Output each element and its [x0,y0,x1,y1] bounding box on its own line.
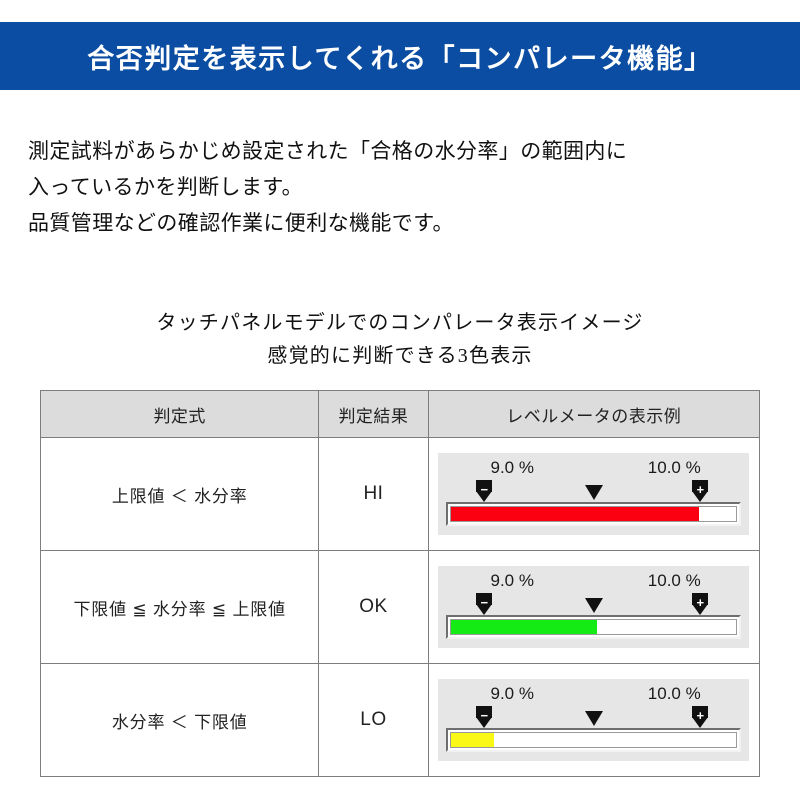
current-value-pointer-icon [585,485,603,500]
page-banner: 合否判定を表示してくれる「コンパレータ機能」 [0,22,800,90]
meter-markers: − + [438,706,749,728]
table-row: 下限値 ≦ 水分率 ≦ 上限値 OK 9.0 % 10.0 % − [41,551,760,664]
upper-limit-label: 10.0 % [648,571,701,591]
meter-cell: 9.0 % 10.0 % − + [428,551,759,664]
section-subheading: タッチパネルモデルでのコンパレータ表示イメージ 感覚的に判断できる3色表示 [0,307,800,373]
table-header: 判定式 判定結果 レベルメータの表示例 [41,391,760,438]
upper-limit-marker-icon: + [690,480,710,502]
meter-bar-frame [446,728,741,752]
subheading-line-1: タッチパネルモデルでのコンパレータ表示イメージ [0,307,800,340]
meter-markers: − + [438,480,749,502]
meter-bar-frame [446,615,741,639]
upper-limit-marker-icon: + [690,593,710,615]
comparator-feature-page: 合否判定を表示してくれる「コンパレータ機能」 測定試料があらかじめ設定された「合… [0,0,800,800]
meter-markers: − + [438,593,749,615]
table-row: 水分率 ＜ 下限値 LO 9.0 % 10.0 % − [41,664,760,777]
meter-bar-fill [451,620,596,634]
meter-cell: 9.0 % 10.0 % − + [428,438,759,551]
upper-limit-marker-icon: + [690,706,710,728]
lead-line-1: 測定試料があらかじめ設定された「合格の水分率」の範囲内に [28,133,773,169]
result-cell: HI [319,438,428,551]
table-header-row: 判定式 判定結果 レベルメータの表示例 [41,391,760,438]
meter-bar-frame [446,502,741,526]
expression-cell: 水分率 ＜ 下限値 [41,664,319,777]
current-value-pointer-icon [585,711,603,726]
meter-labels: 9.0 % 10.0 % [438,571,749,593]
upper-limit-label: 10.0 % [648,684,701,704]
level-meter: 9.0 % 10.0 % − + [438,566,749,648]
meter-bar-fill [451,733,494,747]
lower-limit-label: 9.0 % [491,684,534,704]
minus-icon: − [474,483,494,496]
plus-icon: + [690,709,710,722]
lead-line-2: 入っているかを判断します。 [28,169,773,205]
column-header-result: 判定結果 [319,391,428,438]
result-cell: LO [319,664,428,777]
level-meter: 9.0 % 10.0 % − + [438,679,749,761]
current-value-pointer-icon [585,598,603,613]
meter-cell: 9.0 % 10.0 % − + [428,664,759,777]
meter-bar-track [450,619,737,635]
meter-bar-track [450,506,737,522]
expression-cell: 下限値 ≦ 水分率 ≦ 上限値 [41,551,319,664]
page-title: 合否判定を表示してくれる「コンパレータ機能」 [87,37,712,76]
minus-icon: − [474,709,494,722]
comparator-table: 判定式 判定結果 レベルメータの表示例 上限値 ＜ 水分率 HI 9.0 % 1… [40,390,760,777]
meter-bar-track [450,732,737,748]
column-header-meter: レベルメータの表示例 [428,391,759,438]
table-row: 上限値 ＜ 水分率 HI 9.0 % 10.0 % − [41,438,760,551]
lower-limit-marker-icon: − [474,480,494,502]
lead-line-3: 品質管理などの確認作業に便利な機能です。 [28,205,773,241]
result-cell: OK [319,551,428,664]
level-meter: 9.0 % 10.0 % − + [438,453,749,535]
minus-icon: − [474,596,494,609]
meter-bar-fill [451,507,699,521]
lower-limit-marker-icon: − [474,593,494,615]
table-body: 上限値 ＜ 水分率 HI 9.0 % 10.0 % − [41,438,760,777]
meter-labels: 9.0 % 10.0 % [438,458,749,480]
plus-icon: + [690,596,710,609]
plus-icon: + [690,483,710,496]
lower-limit-marker-icon: − [474,706,494,728]
column-header-expression: 判定式 [41,391,319,438]
upper-limit-label: 10.0 % [648,458,701,478]
expression-cell: 上限値 ＜ 水分率 [41,438,319,551]
lead-paragraph: 測定試料があらかじめ設定された「合格の水分率」の範囲内に 入っているかを判断しま… [28,133,773,241]
meter-labels: 9.0 % 10.0 % [438,684,749,706]
lower-limit-label: 9.0 % [491,571,534,591]
subheading-line-2: 感覚的に判断できる3色表示 [0,340,800,373]
lower-limit-label: 9.0 % [491,458,534,478]
